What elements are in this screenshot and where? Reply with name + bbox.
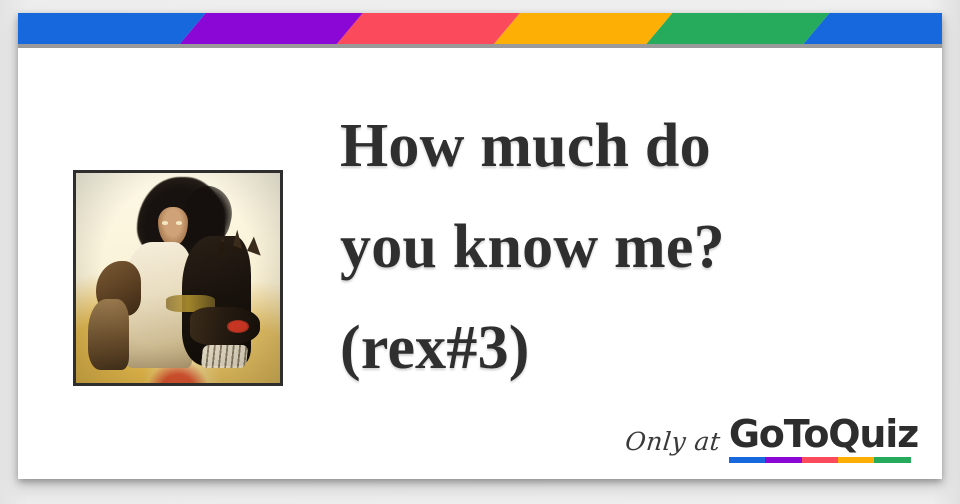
title-line-3: (rex#3)	[340, 298, 885, 399]
brand-prefix: Only at	[623, 427, 722, 463]
quiz-card: How much do you know me? (rex#3) Only at…	[18, 13, 942, 479]
quiz-thumbnail[interactable]	[73, 170, 283, 386]
brand-bar-red	[802, 457, 838, 463]
brand-bar-purple	[765, 457, 801, 463]
brand-footer[interactable]: Only at GoToQuiz	[625, 415, 918, 463]
title-line-1: How much do	[340, 96, 885, 197]
title-line-2: you know me?	[340, 197, 885, 298]
card-body: How much do you know me? (rex#3) Only at…	[18, 48, 942, 479]
brand-bar-green	[874, 457, 910, 463]
thumbnail-artwork	[76, 173, 280, 383]
brand-name: GoToQuiz	[729, 415, 918, 454]
artwork-vignette	[76, 173, 280, 383]
brand-bar-blue	[729, 457, 765, 463]
brand-underline-bar	[729, 457, 911, 463]
ribbon-segment-blue	[18, 13, 206, 44]
brand-logo[interactable]: GoToQuiz	[729, 415, 918, 463]
top-color-ribbon	[18, 13, 942, 44]
page-title: How much do you know me? (rex#3)	[340, 96, 885, 399]
brand-bar-orange	[838, 457, 874, 463]
